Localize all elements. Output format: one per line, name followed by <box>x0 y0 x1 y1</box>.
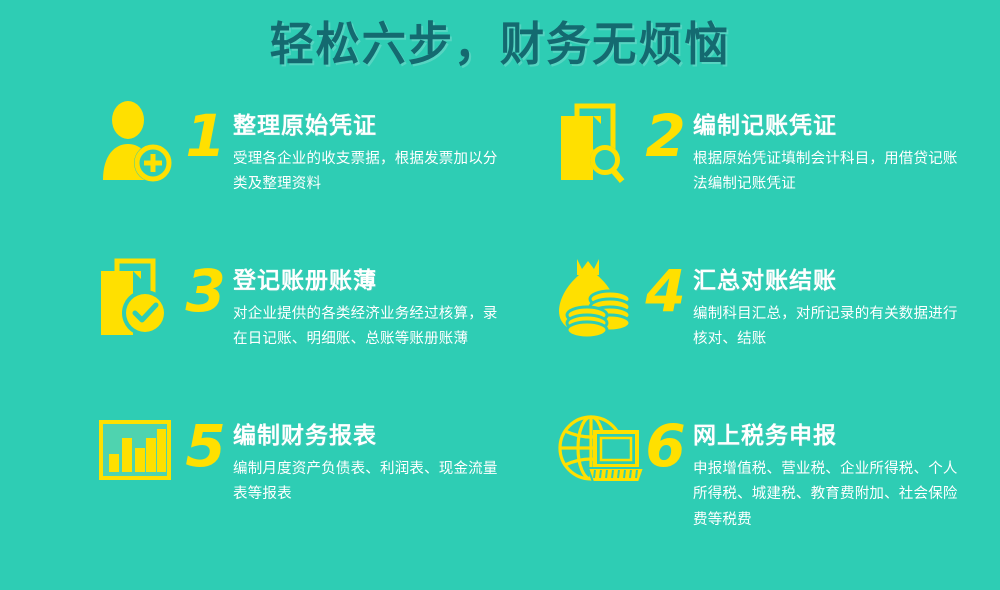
step-title-1: 整理原始凭证 <box>233 113 545 138</box>
step-body-1: 整理原始凭证 受理各企业的收支票据，根据发票加以分类及整理资料 <box>233 100 545 198</box>
step-desc-1: 受理各企业的收支票据，根据发票加以分类及整理资料 <box>233 147 505 198</box>
steps-grid: 1 整理原始凭证 受理各企业的收支票据，根据发票加以分类及整理资料 2 <box>0 94 1000 590</box>
step-item-5[interactable]: 5 编制财务报表 编制月度资产负债表、利润表、现金流量表等报表 <box>95 410 545 508</box>
step-item-6[interactable]: 6 网上税务申报 申报增值税、营业税、企业所得税、个人所得税、城建税、教育费附加… <box>555 410 1000 533</box>
step-desc-2: 根据原始凭证填制会计科目，用借贷记账法编制记账凭证 <box>693 147 965 198</box>
step-item-2[interactable]: 2 编制记账凭证 根据原始凭证填制会计科目，用借贷记账法编制记账凭证 <box>555 100 1000 198</box>
step-number-1: 1 <box>183 100 227 172</box>
step-item-4[interactable]: 4 汇总对账结账 编制科目汇总，对所记录的有关数据进行核对、结账 <box>555 255 1000 353</box>
step-desc-3: 对企业提供的各类经济业务经过核算，录在日记账、明细账、总账等账册账薄 <box>233 302 505 353</box>
step-body-5: 编制财务报表 编制月度资产负债表、利润表、现金流量表等报表 <box>233 410 545 508</box>
poster-canvas: 轻松六步，财务无烦恼 1 整理原始凭证 受理各企业的收支票据，根据发票加以分类及… <box>0 0 1000 590</box>
step-desc-5: 编制月度资产负债表、利润表、现金流量表等报表 <box>233 457 505 508</box>
step-body-6: 网上税务申报 申报增值税、营业税、企业所得税、个人所得税、城建税、教育费附加、社… <box>693 410 1000 533</box>
step-number-2: 2 <box>643 100 687 172</box>
step-desc-4: 编制科目汇总，对所记录的有关数据进行核对、结账 <box>693 302 965 353</box>
step-body-3: 登记账册账薄 对企业提供的各类经济业务经过核算，录在日记账、明细账、总账等账册账… <box>233 255 545 353</box>
step-item-1[interactable]: 1 整理原始凭证 受理各企业的收支票据，根据发票加以分类及整理资料 <box>95 100 545 198</box>
step-number-6: 6 <box>643 410 687 482</box>
step-title-5: 编制财务报表 <box>233 423 545 448</box>
step-number-3: 3 <box>183 255 227 327</box>
title-area: 轻松六步，财务无烦恼 <box>0 0 1000 88</box>
step-item-3[interactable]: 3 登记账册账薄 对企业提供的各类经济业务经过核算，录在日记账、明细账、总账等账… <box>95 255 545 353</box>
step-title-4: 汇总对账结账 <box>693 268 1000 293</box>
step-title-6: 网上税务申报 <box>693 423 1000 448</box>
globe-laptop-icon <box>555 410 647 494</box>
add-user-icon <box>95 100 187 184</box>
step-title-2: 编制记账凭证 <box>693 113 1000 138</box>
document-check-icon <box>95 255 187 339</box>
step-desc-6: 申报增值税、营业税、企业所得税、个人所得税、城建税、教育费附加、社会保险费等税费 <box>693 457 961 533</box>
document-search-icon <box>555 100 647 184</box>
step-body-2: 编制记账凭证 根据原始凭证填制会计科目，用借贷记账法编制记账凭证 <box>693 100 1000 198</box>
page-title: 轻松六步，财务无烦恼 <box>270 21 731 67</box>
money-bag-coins-icon <box>555 255 647 339</box>
step-number-4: 4 <box>643 255 687 327</box>
step-body-4: 汇总对账结账 编制科目汇总，对所记录的有关数据进行核对、结账 <box>693 255 1000 353</box>
step-title-3: 登记账册账薄 <box>233 268 545 293</box>
bar-chart-icon <box>95 410 187 494</box>
step-number-5: 5 <box>183 410 227 482</box>
